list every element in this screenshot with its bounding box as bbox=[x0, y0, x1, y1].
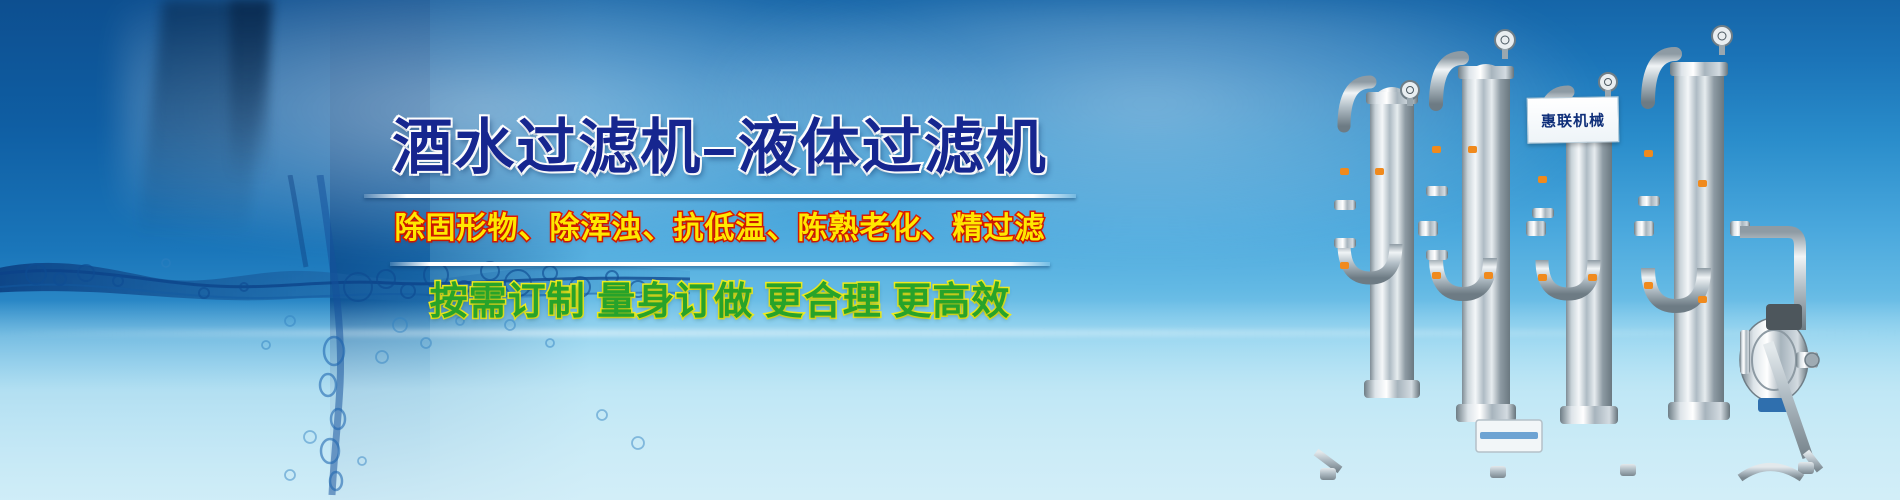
title-divider bbox=[364, 194, 1076, 198]
equipment-brand-sign: 惠联机械 bbox=[1527, 96, 1620, 144]
valve-handle bbox=[1644, 282, 1653, 289]
centrifugal-pump bbox=[1740, 304, 1819, 412]
valve-handle bbox=[1484, 272, 1493, 279]
pressure-gauge bbox=[1712, 26, 1732, 46]
valve-handle bbox=[1340, 168, 1349, 175]
filter-equipment-photo: 惠联机械 bbox=[1300, 0, 1900, 500]
valve-handle bbox=[1432, 272, 1441, 279]
equipment-brand-text: 惠联机械 bbox=[1541, 109, 1605, 131]
pressure-gauge bbox=[1599, 73, 1617, 91]
valve-handle bbox=[1538, 176, 1547, 183]
valve-handle bbox=[1468, 146, 1477, 153]
valve-handle bbox=[1644, 150, 1653, 157]
banner-features: 除固形物、除浑浊、抗低温、陈熟老化、精过滤 bbox=[330, 212, 1110, 247]
valve-handle bbox=[1375, 168, 1384, 175]
banner-copy: 酒水过滤机–液体过滤机 除固形物、除浑浊、抗低温、陈熟老化、精过滤 按需订制 量… bbox=[330, 118, 1110, 323]
water-fall-streak-2 bbox=[230, 0, 270, 180]
valve-handle bbox=[1340, 262, 1349, 269]
features-divider bbox=[390, 262, 1050, 266]
banner-root: 酒水过滤机–液体过滤机 除固形物、除浑浊、抗低温、陈熟老化、精过滤 按需订制 量… bbox=[0, 0, 1900, 500]
valve-handle bbox=[1538, 274, 1547, 281]
valve-handle bbox=[1588, 274, 1597, 281]
pressure-gauge bbox=[1401, 81, 1419, 99]
banner-service: 按需订制 量身订做 更合理 更高效 bbox=[330, 282, 1110, 324]
valve-handle bbox=[1432, 146, 1441, 153]
valve-handle bbox=[1698, 180, 1707, 187]
filter-skid-illustration bbox=[1300, 0, 1900, 500]
pressure-gauge bbox=[1495, 30, 1515, 50]
banner-title: 酒水过滤机–液体过滤机 bbox=[330, 118, 1110, 178]
valve-handle bbox=[1698, 296, 1707, 303]
